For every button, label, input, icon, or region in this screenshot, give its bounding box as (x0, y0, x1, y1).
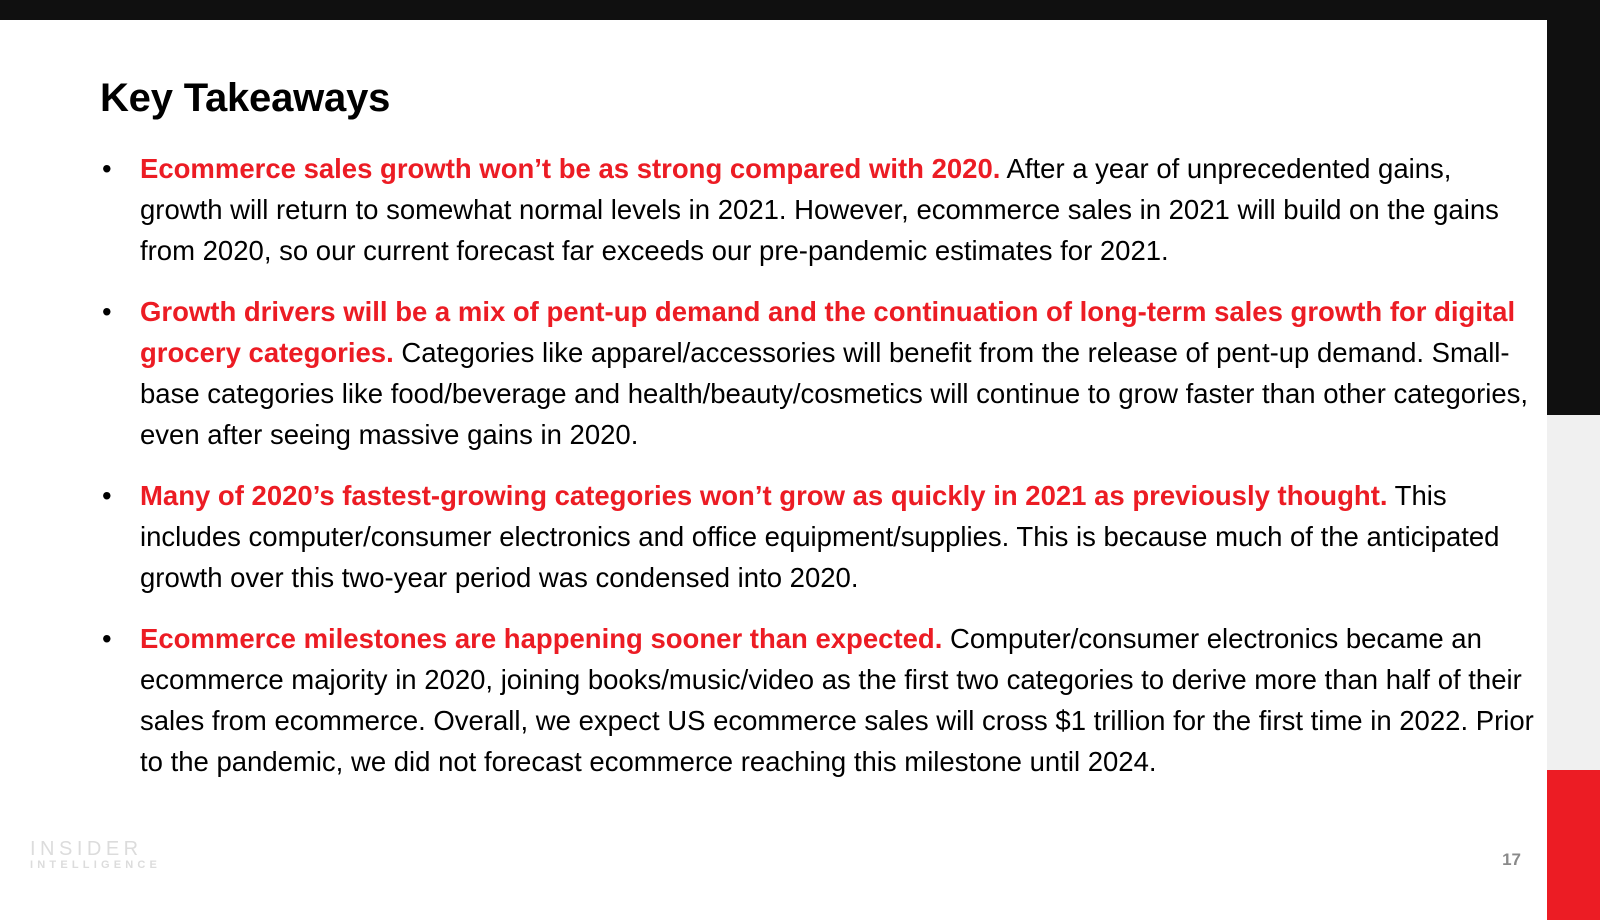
bullet-marker-icon: • (102, 475, 122, 516)
edge-segment-black (1547, 20, 1600, 415)
insider-intelligence-logo: INSIDER INTELLIGENCE (30, 839, 161, 872)
edge-segment-red (1547, 770, 1600, 920)
logo-line-insider: INSIDER (30, 839, 161, 860)
page-title: Key Takeaways (100, 76, 390, 121)
bullet-lead-text: Ecommerce sales growth won’t be as stron… (140, 153, 1000, 184)
top-black-bar (0, 0, 1600, 20)
bullet-marker-icon: • (102, 618, 122, 659)
bullet-item: •Many of 2020’s fastest-growing categori… (98, 475, 1538, 598)
slide-root: Key Takeaways •Ecommerce sales growth wo… (0, 0, 1600, 900)
bullet-lead-text: Ecommerce milestones are happening soone… (140, 623, 942, 654)
bullet-item: •Ecommerce milestones are happening soon… (98, 618, 1538, 782)
right-edge-decorative-strip (1547, 20, 1600, 900)
bullet-marker-icon: • (102, 291, 122, 332)
page-number: 17 (1502, 850, 1521, 870)
bullet-item: •Growth drivers will be a mix of pent-up… (98, 291, 1538, 455)
logo-line-intelligence: INTELLIGENCE (30, 860, 161, 872)
slide-canvas: Key Takeaways •Ecommerce sales growth wo… (0, 20, 1547, 900)
bullet-lead-text: Many of 2020’s fastest-growing categorie… (140, 480, 1388, 511)
bullet-marker-icon: • (102, 148, 122, 189)
bullet-list: •Ecommerce sales growth won’t be as stro… (98, 148, 1538, 782)
bullet-item: •Ecommerce sales growth won’t be as stro… (98, 148, 1538, 271)
edge-segment-gray (1547, 415, 1600, 770)
